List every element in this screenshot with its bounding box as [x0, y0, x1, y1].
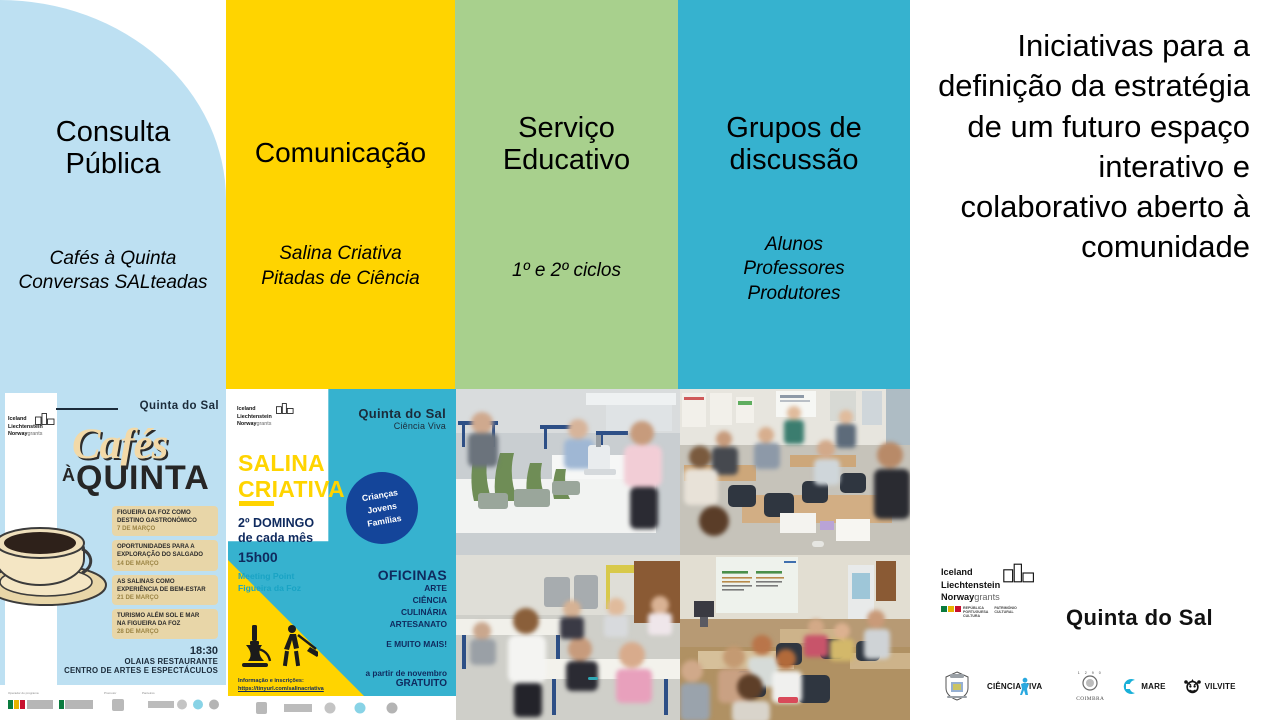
session-title: FIGUEIRA DA FOZ COMO DESTINO GASTRONÓMIC… [117, 509, 213, 525]
column-grupos-de-discussao: Grupos de discussão Alunos Professores P… [678, 0, 910, 389]
poster-cafes-venue-1: OLAIAS RESTAURANTE [0, 657, 218, 666]
photo-roundtable-discussion-room [680, 555, 910, 720]
photo-grupos-discussao-top [680, 389, 910, 555]
poster-salina-workshops-list: ARTE CIÊNCIA CULINÁRIA ARTESANATO [378, 583, 447, 631]
mare-label: MARE [1141, 682, 1165, 691]
eea-line2: Liechtenstein [8, 424, 56, 432]
poster-salina-availability: a partir de novembro GRATUITO [366, 669, 447, 689]
footer-logo-mare: MARE [1121, 678, 1165, 695]
poster-cafes-eea-grants-logo: Iceland Liechtenstein Norwaygrants [8, 416, 56, 439]
column-comunicacao: Comunicação Salina Criativa Pitadas de C… [226, 0, 455, 389]
photo-classroom-plants-microscopes [456, 389, 680, 555]
slide-root: Consulta Pública Cafés à Quinta Conversa… [0, 0, 1280, 720]
session-date: 14 DE MARÇO [117, 560, 213, 567]
photo-servico-educativo-bottom [456, 555, 680, 720]
session-title: OPORTUNIDADES PARA A EXPLORAÇÃO DO SALGA… [117, 543, 213, 559]
coimbra-label: COIMBRA [1076, 696, 1104, 702]
column-title-grupos-de-discussao: Grupos de discussão [726, 112, 861, 177]
eea-grants-mark-icon [1003, 562, 1035, 584]
column-servico-educativo: Serviço Educativo 1º e 2º ciclos [455, 0, 678, 389]
eea-line3: Norway [8, 431, 27, 437]
photo-children-workshop-tables [456, 555, 680, 720]
column-title-comunicacao: Comunicação [255, 137, 426, 168]
poster-salina-audience-badge: Crianças Jovens Famílias [346, 472, 418, 544]
coffee-cup-illustration-icon [0, 485, 116, 617]
poster-salina-schedule: 2º DOMINGO de cada mês [238, 516, 314, 547]
poster-salina-more: E MUITO MAIS! [386, 639, 447, 649]
footer-brand-quinta-do-sal: Quinta do Sal [1066, 605, 1213, 631]
session-date: 21 DE MARÇO [117, 594, 213, 601]
poster-salina-logo-bar [228, 696, 456, 720]
vilvite-mascot-icon [1183, 678, 1202, 695]
flag-yellow-icon [948, 606, 954, 612]
salt-worker-icon [283, 625, 318, 666]
flag-green-icon [941, 606, 947, 612]
logo-label-partners: Parceiros [142, 691, 155, 695]
poster-header-rule [56, 408, 118, 410]
column-subtitle-consulta-publica: Cafés à Quinta Conversas SALteadas [18, 247, 207, 296]
column-consulta-publica: Consulta Pública Cafés à Quinta Conversa… [0, 0, 226, 389]
eea-grants-mark-icon [276, 403, 294, 414]
footer-logo-universidade-coimbra: 1 2 9 0 COIMBRA [1076, 671, 1104, 702]
ciencia-viva-figure-icon [1017, 677, 1031, 695]
poster-cafes-time: 18:30 [0, 645, 218, 657]
coimbra-seal-icon [1082, 675, 1098, 691]
session-date: 28 DE MARÇO [117, 628, 213, 635]
photo-servico-educativo-top [456, 389, 680, 555]
eea-grants-word: grants [256, 421, 271, 427]
footer-logo-ciencia-viva: CIÊNCIA VIVA [987, 677, 1059, 695]
poster-cafes-session-item: TURISMO ALÉM SOL E MAR NA FIGUEIRA DA FO… [112, 609, 218, 639]
eea-line3: Norway [237, 421, 256, 427]
column-subtitle-servico-educativo: 1º e 2º ciclos [512, 259, 621, 283]
session-date: 7 DE MARÇO [117, 525, 213, 532]
poster-salina-brand: Quinta do Sal Ciência Viva [358, 406, 446, 431]
poster-cafes-session-item: FIGUEIRA DA FOZ COMO DESTINO GASTRONÓMIC… [112, 506, 218, 536]
microscope-icon [242, 625, 270, 667]
vilvite-label: VILVITE [1205, 682, 1236, 691]
poster-cafes-a-quinta: Iceland Liechtenstein Norwaygrants Quint… [0, 389, 226, 720]
column-subtitle-comunicacao: Salina Criativa Pitadas de Ciência [261, 242, 419, 291]
poster-salina-audience-text: Crianças Jovens Famílias [361, 486, 403, 530]
poster-cafes-venue-2: CENTRO DE ARTES E ESPECTÁCULOS [0, 666, 218, 675]
footer-partner-republica: REPÚBLICA PORTUGUESA CULTURA [963, 606, 988, 619]
poster-salina-price: GRATUITO [366, 678, 447, 689]
photo-grupos-discussao-bottom [680, 555, 910, 720]
eea-line1: Iceland [8, 416, 56, 424]
camara-figueira-da-foz-crest-icon [944, 671, 970, 701]
footer-eea-grants-word: grants [974, 592, 1000, 602]
column-title-servico-educativo: Serviço Educativo [503, 112, 630, 177]
page-headline: Iniciativas para a definição da estratég… [930, 26, 1250, 268]
poster-salina-title: SALINA CRIATIVA [238, 451, 345, 503]
poster-salina-info: Informação e inscrições: https://tinyurl… [238, 677, 324, 693]
poster-cafes-logo-bar: Operador do programa Promotor Parceiros [0, 685, 226, 720]
microscope-and-salt-worker-icons [240, 621, 318, 673]
poster-salina-workshops: OFICINAS ARTE CIÊNCIA CULINÁRIA ARTESANA… [378, 567, 447, 631]
ciencia-viva-label: CIÊNCIA VIVA [987, 682, 1042, 691]
poster-cafes-footer: 18:30 OLAIAS RESTAURANTE CENTRO DE ARTES… [0, 645, 218, 675]
poster-salina-from: a partir de novembro [366, 669, 447, 678]
column-title-consulta-publica: Consulta Pública [56, 116, 170, 181]
poster-salina-brand-line1: Quinta do Sal [358, 406, 446, 421]
poster-salina-title-underline [239, 501, 274, 506]
poster-salina-hour: 15h00 [238, 549, 278, 565]
photo-workshop-presentation-room [680, 389, 910, 555]
mare-wave-icon [1121, 678, 1138, 695]
footer-eea-partner-row: REPÚBLICA PORTUGUESA CULTURA PATRIMÓNIO … [941, 606, 1019, 619]
flag-red-icon [955, 606, 961, 612]
column-subtitle-grupos-de-discussao: Alunos Professores Produtores [743, 233, 844, 306]
poster-salina-meeting-point: Meeting Point Figueira da Foz [238, 571, 301, 594]
session-title: AS SALINAS COMO EXPERIÊNCIA DE BEM-ESTAR [117, 578, 213, 594]
footer-partner-patrimonio: PATRIMÓNIO CULTURAL [994, 606, 1016, 615]
poster-cafes-partner-logos-icon [0, 698, 226, 720]
eea-grants-word: grants [27, 431, 42, 437]
logo-label-program: Operador do programa [8, 691, 39, 695]
poster-cafes-session-item: OPORTUNIDADES PARA A EXPLORAÇÃO DO SALGA… [112, 540, 218, 570]
footer-logo-vilvite: VILVITE [1183, 678, 1236, 695]
footer-eea-grants-logo: Iceland Liechtenstein Norwaygrants REPÚB… [941, 566, 1019, 618]
logo-label-promoter: Promotor [104, 691, 116, 695]
session-title: TURISMO ALÉM SOL E MAR NA FIGUEIRA DA FO… [117, 612, 213, 628]
poster-cafes-session-list: FIGUEIRA DA FOZ COMO DESTINO GASTRONÓMIC… [112, 506, 218, 643]
footer-eea-line3: Norway [941, 592, 974, 602]
poster-salina-info-url[interactable]: https://tinyurl.com/salinacriativa [238, 685, 324, 693]
poster-cafes-session-item: AS SALINAS COMO EXPERIÊNCIA DE BEM-ESTAR… [112, 575, 218, 605]
poster-salina-brand-line2: Ciência Viva [358, 421, 446, 431]
poster-salina-partner-logos-icon [252, 701, 432, 715]
poster-salina-workshops-heading: OFICINAS [378, 567, 447, 583]
poster-cafes-brand: Quinta do Sal [140, 400, 219, 412]
eea-line2: Liechtenstein [237, 414, 289, 422]
footer-logo-strip: CIÊNCIA VIVA 1 2 9 0 COIMBRA MARE [944, 668, 1244, 704]
poster-salina-info-label: Informação e inscrições: [238, 677, 324, 685]
poster-cafes-title-a: À [62, 465, 75, 486]
poster-salina-criativa: Iceland Liechtenstein Norwaygrants Quint… [228, 389, 456, 720]
